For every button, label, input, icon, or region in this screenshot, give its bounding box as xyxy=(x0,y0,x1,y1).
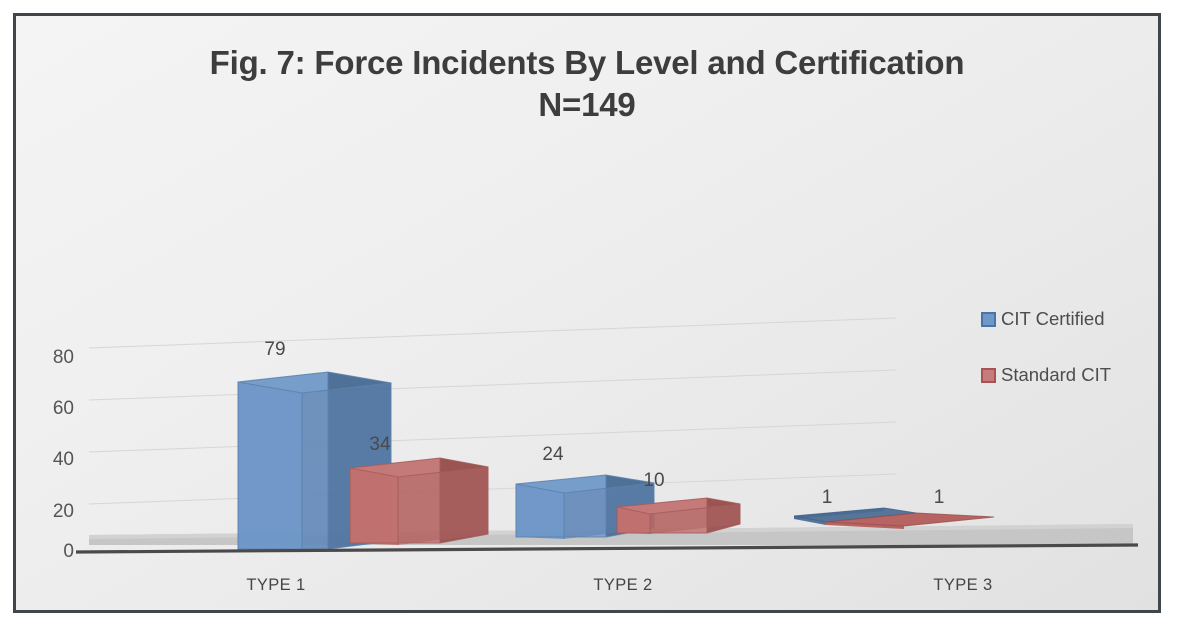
x-axis-line xyxy=(76,545,1138,552)
y-tick-40: 40 xyxy=(28,450,74,469)
y-tick-0: 0 xyxy=(28,542,74,561)
bar-inner-face xyxy=(398,467,488,545)
x-category-type-3: TYPE 3 xyxy=(873,577,1053,594)
chart-legend: CIT Certified Standard CIT xyxy=(981,308,1156,420)
legend-label-standard-cit: Standard CIT xyxy=(1001,366,1111,385)
legend-item-cit-certified[interactable]: CIT Certified xyxy=(981,308,1156,330)
chart-frame: Fig. 7: Force Incidents By Level and Cer… xyxy=(13,13,1161,613)
legend-swatch-blue-icon xyxy=(981,312,996,327)
data-label-type1-cit-certified: 79 xyxy=(250,340,300,359)
gridline-60 xyxy=(89,370,896,400)
y-tick-20: 20 xyxy=(28,502,74,521)
y-tick-60: 60 xyxy=(28,399,74,418)
data-label-type2-cit-certified: 24 xyxy=(528,445,578,464)
legend-label-cit-certified: CIT Certified xyxy=(1001,310,1105,329)
data-label-type3-standard-cit: 1 xyxy=(914,488,964,507)
gridline-20 xyxy=(89,474,896,504)
gridline-40 xyxy=(89,422,896,452)
gridline-80 xyxy=(89,318,896,348)
y-tick-80: 80 xyxy=(28,348,74,367)
x-category-type-1: TYPE 1 xyxy=(186,577,366,594)
data-label-type2-standard-cit: 10 xyxy=(629,471,679,490)
x-category-type-2: TYPE 2 xyxy=(533,577,713,594)
legend-swatch-red-icon xyxy=(981,368,996,383)
gridlines xyxy=(89,318,896,504)
legend-item-standard-cit[interactable]: Standard CIT xyxy=(981,364,1156,386)
data-label-type1-standard-cit: 34 xyxy=(355,435,405,454)
bar-type1-standard-cit[interactable] xyxy=(350,458,488,545)
data-label-type3-cit-certified: 1 xyxy=(802,488,852,507)
